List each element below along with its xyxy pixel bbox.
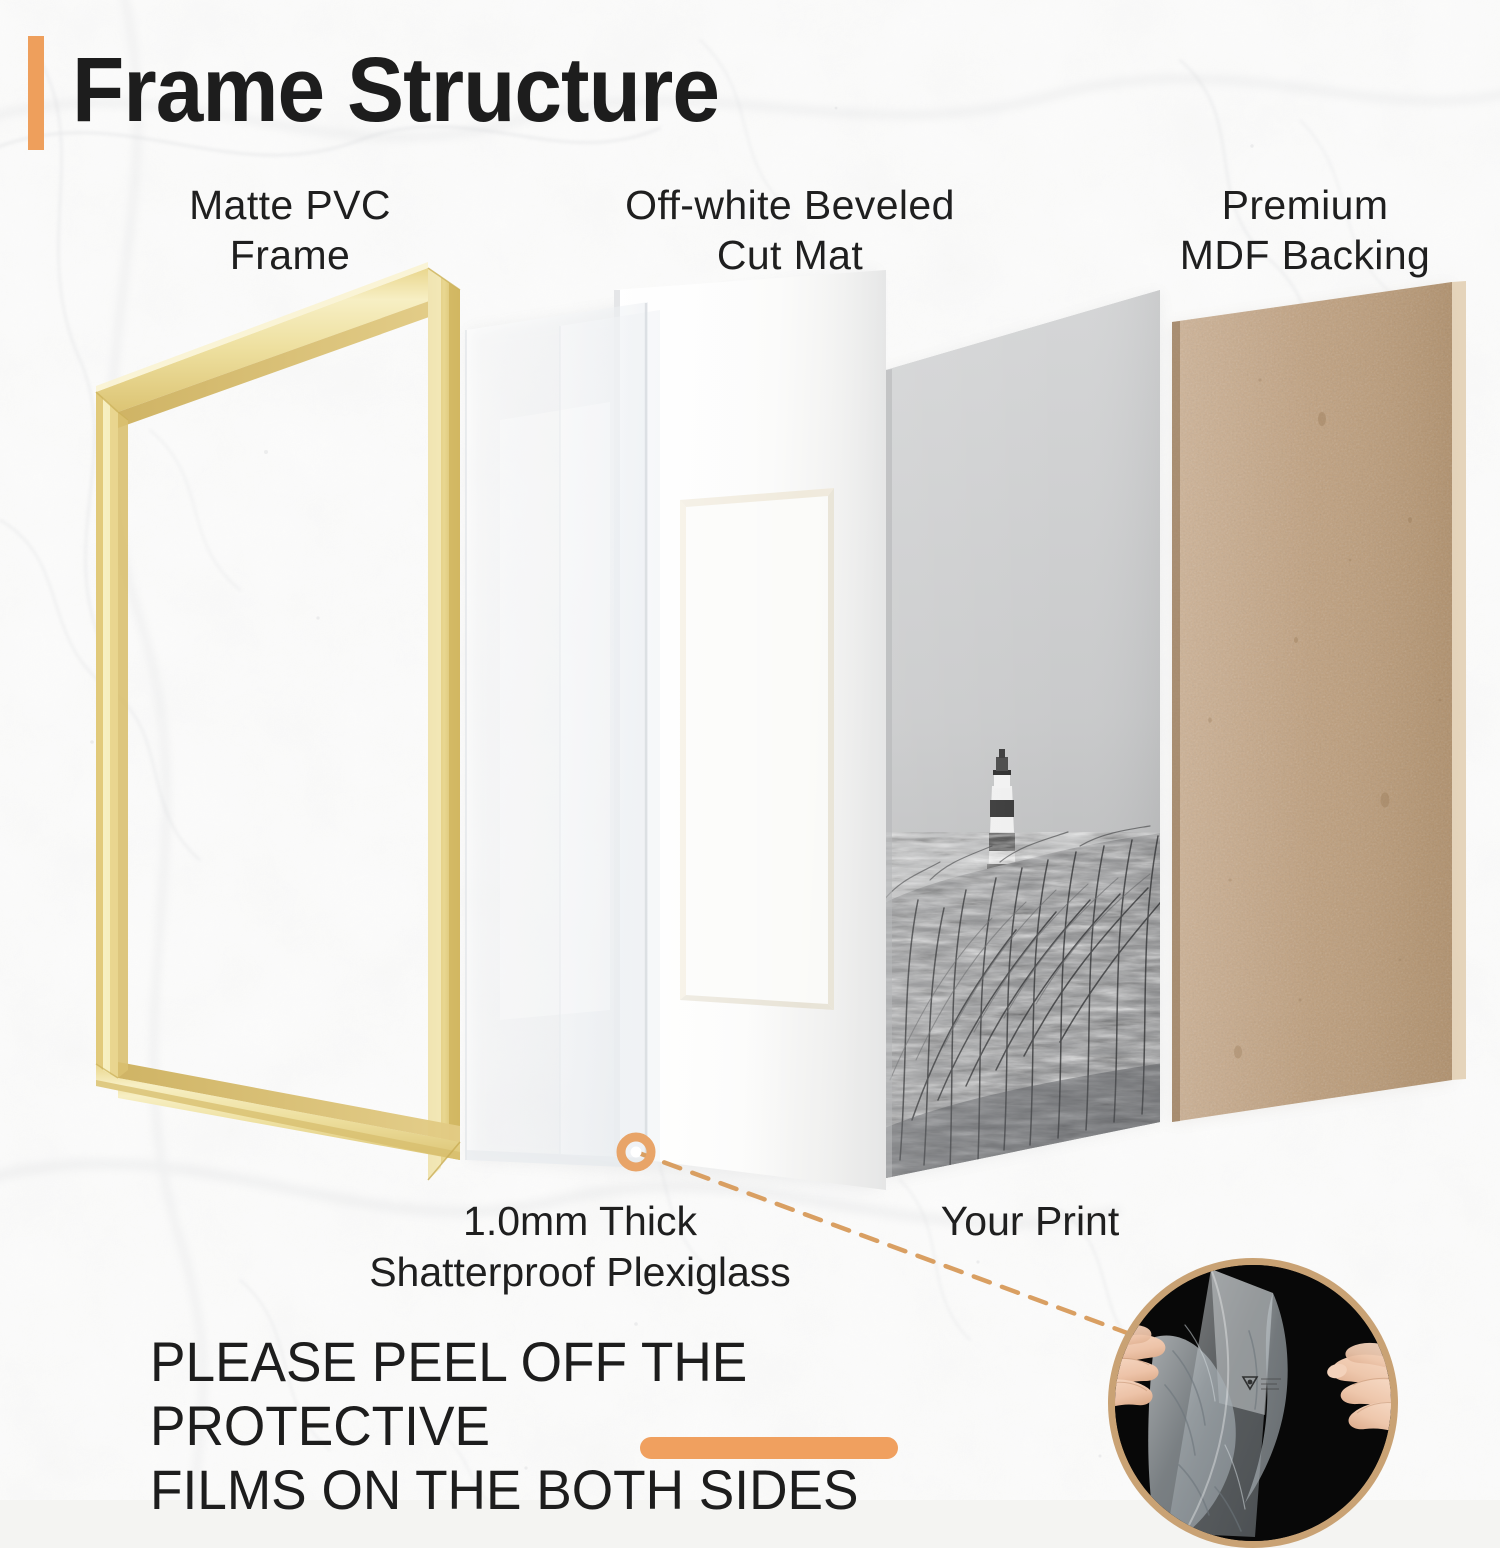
label-line-1: 1.0mm Thick (260, 1196, 900, 1247)
label-mdf-backing: Premium MDF Backing (1120, 180, 1490, 280)
label-your-print: Your Print (880, 1196, 1180, 1247)
label-line-1: Off-white Beveled (540, 180, 1040, 230)
title-accent-bar (28, 36, 44, 150)
print-panel (880, 280, 1170, 1190)
label-line-2: MDF Backing (1120, 230, 1490, 280)
label-line-1: Premium (1120, 180, 1490, 230)
label-line-1: Your Print (880, 1196, 1180, 1247)
page-title: Frame Structure (72, 30, 719, 150)
label-plexiglass: 1.0mm Thick Shatterproof Plexiglass (260, 1196, 900, 1298)
label-line-2: Shatterproof Plexiglass (260, 1247, 900, 1298)
plexiglass-panel (466, 302, 660, 1170)
pvc-frame (96, 262, 460, 1180)
peel-warning: PLEASE PEEL OFF THE PROTECTIVE FILMS ON … (150, 1330, 1043, 1522)
label-line-2: Cut Mat (540, 230, 1040, 280)
label-line-2: Frame (110, 230, 470, 280)
warning-line-2: FILMS ON THE BOTH SIDES (150, 1458, 1043, 1522)
peel-protective-film-photo (1108, 1258, 1398, 1548)
mdf-backing-panel (1160, 270, 1470, 1140)
label-line-1: Matte PVC (110, 180, 470, 230)
warning-line-1: PLEASE PEEL OFF THE PROTECTIVE (150, 1330, 1043, 1458)
label-matte-pvc-frame: Matte PVC Frame (110, 180, 470, 280)
label-cut-mat: Off-white Beveled Cut Mat (540, 180, 1040, 280)
